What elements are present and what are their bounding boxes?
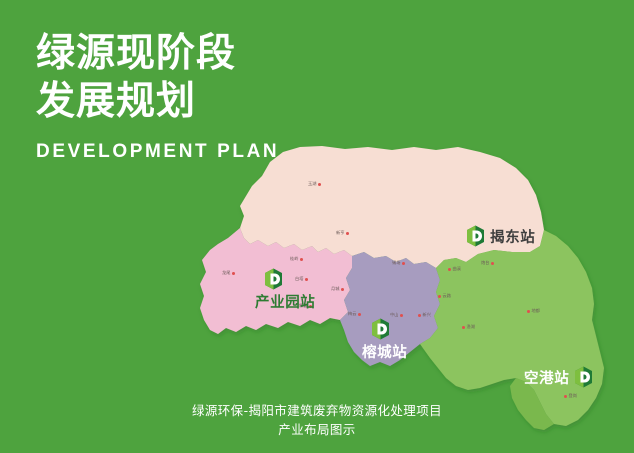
city-marker: 地都 [527,308,540,314]
city-marker: 龙尾 [222,270,235,276]
city-dot-icon [300,258,303,261]
city-dot-icon [438,295,441,298]
city-dot-icon [400,314,403,317]
city-label: 玉湖 [308,181,317,187]
city-marker: 渔湖 [462,324,475,330]
city-dot-icon [346,232,349,235]
city-label: 曲溪 [453,266,462,272]
city-label: 月城 [331,286,340,292]
city-label: 龙尾 [222,270,231,276]
city-dot-icon [448,268,451,271]
city-marker: 玉湖 [308,181,321,187]
city-marker: 曲溪 [448,266,461,272]
city-marker: 新兴 [418,312,431,318]
city-marker: 炮台 [481,260,494,266]
city-label: 新兴 [423,312,432,318]
city-marker: 桂岭 [290,256,303,262]
city-marker: 梅云 [348,311,361,317]
city-label: 云路 [443,293,452,299]
city-dot-icon [318,183,321,186]
station-label: 榕城站 [362,341,407,362]
station-marker-konggang[interactable]: 空港站 [524,366,593,388]
lvyuan-cube-logo-icon [466,225,485,247]
station-marker-chanyeyuan[interactable]: 产业园站 [255,268,315,312]
city-label: 梅云 [348,311,357,317]
headline-subtitle: DEVELOPMENT PLAN [36,141,279,163]
city-label: 新亨 [336,230,345,236]
city-dot-icon [418,314,421,317]
headline-line-2: 发展规划 [36,80,279,124]
city-marker: 云路 [438,293,451,299]
city-dot-icon [358,313,361,316]
station-marker-jiedong[interactable]: 揭东站 [466,225,535,247]
city-marker: 新亨 [336,230,349,236]
city-label: 炮台 [481,260,490,266]
city-label: 锡场 [392,260,401,266]
city-dot-icon [462,326,465,329]
headline-line-1: 绿源现阶段 [36,32,279,76]
station-label: 揭东站 [490,226,535,247]
station-label: 产业园站 [255,291,315,312]
caption-line-2: 产业布局图示 [0,420,634,439]
poster-canvas: 玉湖 新亨 锡场 龙尾 桂岭 白塔 月城 霖磐 [0,0,634,453]
lvyuan-cube-logo-icon [371,318,390,340]
city-label: 桂岭 [290,256,299,262]
city-dot-icon [491,262,494,265]
caption-line-1: 绿源环保-揭阳市建筑废弃物资源化处理项目 [0,401,634,420]
city-dot-icon [402,262,405,265]
city-label: 渔湖 [467,324,476,330]
city-label: 登岗 [569,393,578,399]
city-marker: 登岗 [564,393,577,399]
lvyuan-cube-logo-icon [264,268,283,290]
poster-caption: 绿源环保-揭阳市建筑废弃物资源化处理项目 产业布局图示 [0,401,634,439]
city-dot-icon [527,310,530,313]
city-marker: 月城 [331,286,344,292]
city-label: 地都 [532,308,541,314]
city-dot-icon [232,272,235,275]
city-dot-icon [341,288,344,291]
lvyuan-cube-logo-icon [574,366,593,388]
station-label: 空港站 [524,367,569,388]
city-dot-icon [564,395,567,398]
poster-headline: 绿源现阶段 发展规划 DEVELOPMENT PLAN [36,32,279,163]
city-marker: 锡场 [392,260,405,266]
station-marker-rongcheng[interactable]: 榕城站 [362,318,407,362]
